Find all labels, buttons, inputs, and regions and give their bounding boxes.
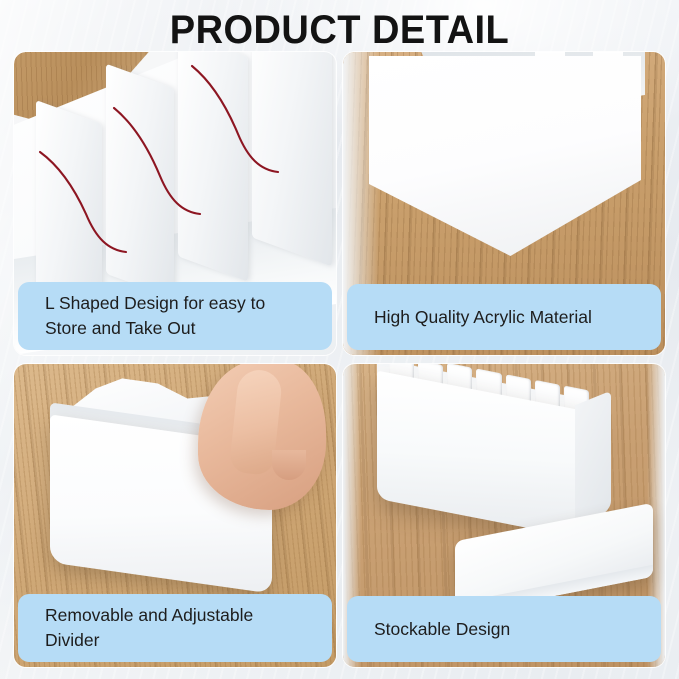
- product-detail-page: PRODUCT DETAIL L Shaped Design for easy …: [0, 0, 679, 679]
- panel-grid: L Shaped Design for easy to Store and Ta…: [14, 52, 665, 667]
- caption-line: High Quality Acrylic Material: [374, 305, 645, 330]
- caption-line: Stockable Design: [374, 617, 645, 642]
- red-annotation-curves: [14, 52, 336, 292]
- caption-line: L Shaped Design for easy to: [45, 291, 316, 316]
- panel-divider: Removable and Adjustable Divider: [14, 364, 336, 667]
- page-title: PRODUCT DETAIL: [17, 8, 662, 52]
- caption-line: Store and Take Out: [45, 316, 316, 341]
- caption-l-shape: L Shaped Design for easy to Store and Ta…: [18, 282, 332, 350]
- panel-l-shape: L Shaped Design for easy to Store and Ta…: [14, 52, 336, 355]
- caption-divider: Removable and Adjustable Divider: [18, 594, 332, 662]
- caption-material: High Quality Acrylic Material: [347, 284, 661, 350]
- panel-stockable: Stockable Design: [343, 364, 665, 667]
- caption-stockable: Stockable Design: [347, 596, 661, 662]
- panel-material: High Quality Acrylic Material: [343, 52, 665, 355]
- caption-line: Removable and Adjustable: [45, 603, 316, 628]
- box-side-panel: [575, 391, 611, 526]
- caption-line: Divider: [45, 628, 316, 653]
